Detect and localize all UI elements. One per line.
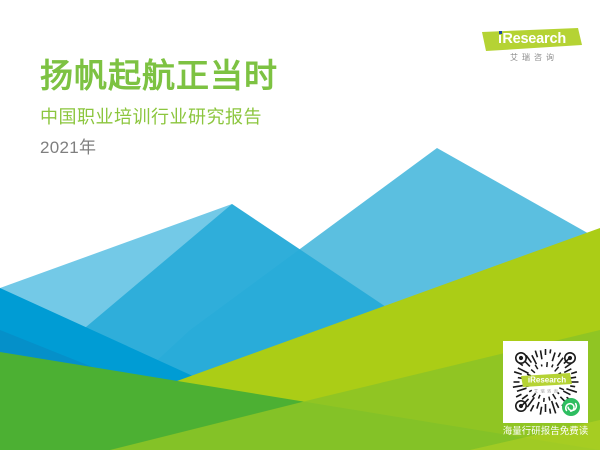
- report-cover-page: iResearch 艾瑞咨询 扬帆起航正当时 中国职业培训行业研究报告 2021…: [0, 0, 600, 450]
- iresearch-logo: iResearch 艾瑞咨询: [482, 28, 582, 72]
- svg-text:艾瑞咨询: 艾瑞咨询: [534, 388, 560, 395]
- wechat-miniprogram-badge-icon: [562, 398, 580, 416]
- report-year: 2021年: [40, 138, 470, 158]
- logo-letter-i: i: [498, 32, 502, 47]
- qr-code-icon[interactable]: iResearch 艾瑞咨询: [503, 341, 588, 423]
- qr-code-block[interactable]: iResearch 艾瑞咨询 海量行研报告免费读: [503, 341, 588, 441]
- page-title: 扬帆起航正当时: [40, 56, 470, 96]
- logo-word-research: Research: [502, 32, 566, 47]
- svg-text:iResearch: iResearch: [528, 376, 566, 385]
- title-block: 扬帆起航正当时 中国职业培训行业研究报告 2021年: [40, 56, 470, 158]
- page-subtitle: 中国职业培训行业研究报告: [40, 106, 470, 129]
- qr-caption: 海量行研报告免费读: [500, 423, 591, 441]
- qr-code-card[interactable]: iResearch 艾瑞咨询: [503, 341, 588, 423]
- logo-wordmark: iResearch: [482, 28, 582, 51]
- logo-chinese-name: 艾瑞咨询: [482, 53, 582, 63]
